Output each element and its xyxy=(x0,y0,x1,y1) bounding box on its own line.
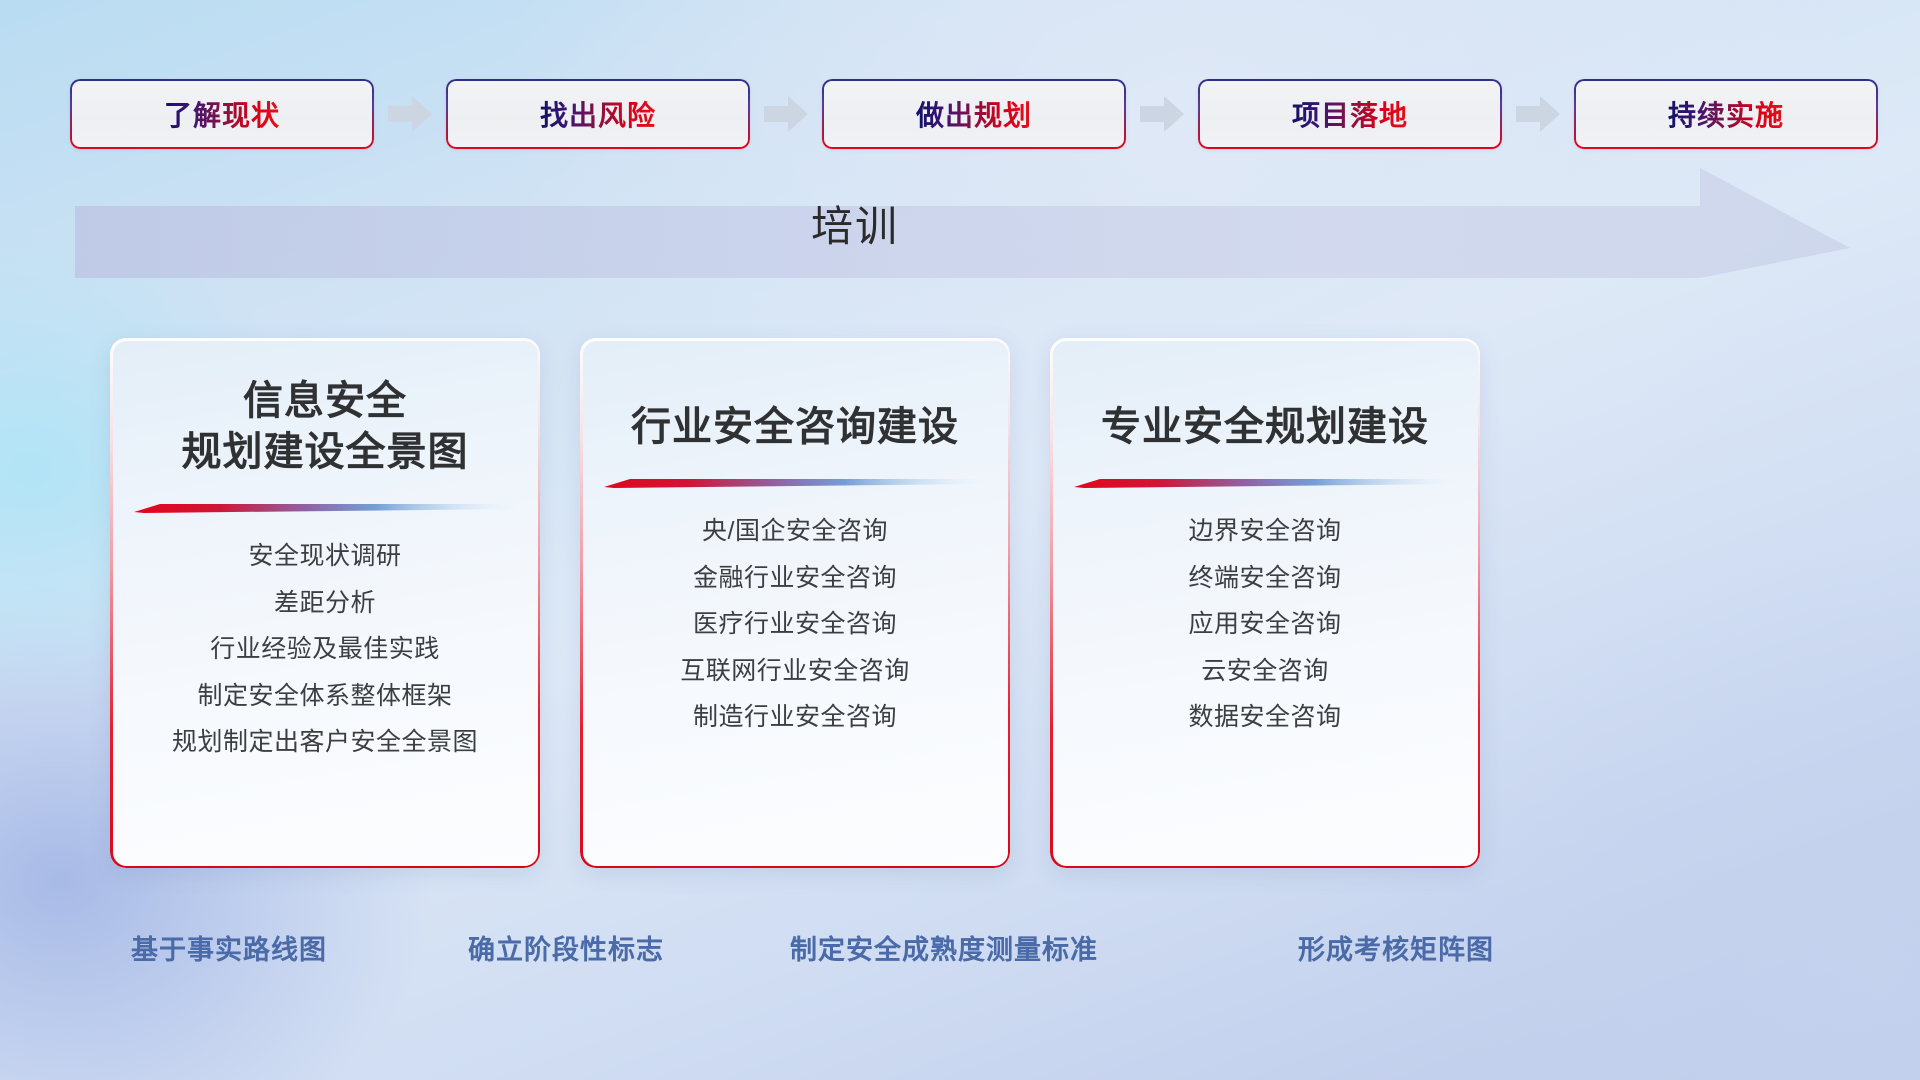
caption-0: 基于事实路线图 xyxy=(131,928,327,967)
card-panorama[interactable]: 信息安全 规划建设全景图 xyxy=(110,338,540,868)
step-label: 持续实施 xyxy=(1668,94,1784,134)
step-label: 了解现状 xyxy=(164,94,280,134)
card-title: 行业安全咨询建设 xyxy=(631,376,959,453)
list-item: 医疗行业安全咨询 xyxy=(693,608,897,641)
training-banner: 培训 xyxy=(75,168,1850,278)
step-label: 做出规划 xyxy=(916,94,1032,134)
chevron-right-arrow-icon xyxy=(1140,96,1184,132)
card-item-list: 央/国企安全咨询 金融行业安全咨询 医疗行业安全咨询 互联网行业安全咨询 制造行… xyxy=(604,515,986,734)
list-item: 互联网行业安全咨询 xyxy=(680,655,910,688)
caption-1: 确立阶段性标志 xyxy=(468,928,664,967)
list-item: 终端安全咨询 xyxy=(1188,562,1341,595)
card-row: 信息安全 规划建设全景图 xyxy=(0,338,1920,878)
step-button-0[interactable]: 了解现状 xyxy=(70,79,374,149)
list-item: 规划制定出客户安全全景图 xyxy=(172,726,478,759)
card-item-list: 边界安全咨询 终端安全咨询 应用安全咨询 云安全咨询 数据安全咨询 xyxy=(1074,515,1456,734)
slide-canvas: 了解现状 找出风险 做出规划 项目落地 持续实施 xyxy=(0,0,1920,1080)
card-title: 信息安全 规划建设全景图 xyxy=(182,376,469,478)
card-professional-planning[interactable]: 专业安全规划建设 xyxy=(1050,338,1480,868)
card-industry-consulting[interactable]: 行业安全咨询建设 xyxy=(580,338,1010,868)
card-item-list: 安全现状调研 差距分析 行业经验及最佳实践 制定安全体系整体框架 规划制定出客户… xyxy=(134,540,516,759)
list-item: 行业经验及最佳实践 xyxy=(210,633,440,666)
step-button-2[interactable]: 做出规划 xyxy=(822,79,1126,149)
gradient-divider-icon xyxy=(1074,477,1456,489)
gradient-divider-icon xyxy=(604,477,986,489)
list-item: 应用安全咨询 xyxy=(1188,608,1341,641)
caption-3: 形成考核矩阵图 xyxy=(1298,928,1494,967)
list-item: 央/国企安全咨询 xyxy=(702,515,888,548)
list-item: 金融行业安全咨询 xyxy=(693,562,897,595)
step-button-3[interactable]: 项目落地 xyxy=(1198,79,1502,149)
chevron-right-arrow-icon xyxy=(764,96,808,132)
caption-2: 制定安全成熟度测量标准 xyxy=(790,928,1098,967)
gradient-divider-icon xyxy=(134,502,516,514)
step-label: 找出风险 xyxy=(540,94,656,134)
process-step-row: 了解现状 找出风险 做出规划 项目落地 持续实施 xyxy=(70,78,1860,150)
chevron-right-arrow-icon xyxy=(1516,96,1560,132)
list-item: 边界安全咨询 xyxy=(1188,515,1341,548)
chevron-right-arrow-icon xyxy=(388,96,432,132)
list-item: 安全现状调研 xyxy=(248,540,401,573)
list-item: 数据安全咨询 xyxy=(1188,701,1341,734)
list-item: 制定安全体系整体框架 xyxy=(197,680,452,713)
caption-row: 基于事实路线图 确立阶段性标志 制定安全成熟度测量标准 形成考核矩阵图 xyxy=(0,928,1920,978)
step-button-1[interactable]: 找出风险 xyxy=(446,79,750,149)
list-item: 云安全咨询 xyxy=(1201,655,1329,688)
banner-title: 培训 xyxy=(75,168,1635,278)
step-button-4[interactable]: 持续实施 xyxy=(1574,79,1878,149)
card-title: 专业安全规划建设 xyxy=(1101,376,1429,453)
list-item: 差距分析 xyxy=(274,587,376,620)
list-item: 制造行业安全咨询 xyxy=(693,701,897,734)
step-label: 项目落地 xyxy=(1292,94,1408,134)
